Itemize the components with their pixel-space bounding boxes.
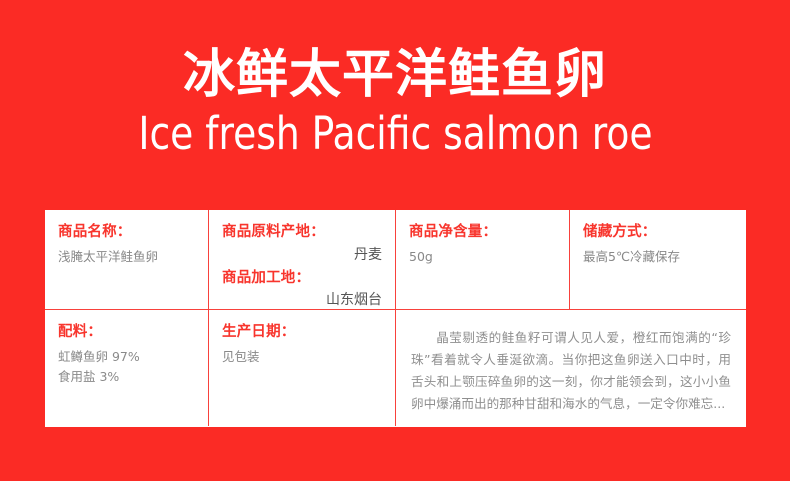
net-content-label: 商品净含量： [409,223,556,243]
cell-description: 晶莹剔透的鲑鱼籽可谓人见人爱，橙红而饱满的“珍珠”看着就令人垂涎欲滴。当你把这鱼… [396,310,746,426]
ingredient-item: 食用盐 3% [58,367,195,387]
production-date-label: 生产日期： [222,323,382,343]
product-name-label: 商品名称： [58,223,195,243]
product-spec-table: 商品名称： 浅腌太平洋鲑鱼卵 商品原料产地： 丹麦 商品加工地： 山东烟台 商品… [45,210,746,427]
ingredients-label: 配料： [58,323,195,343]
cell-ingredients: 配料： 虹鳟鱼卵 97% 食用盐 3% [45,310,209,426]
ingredient-item: 虹鳟鱼卵 97% [58,347,195,367]
processing-place-value: 山东烟台 [222,289,382,309]
product-name-value: 浅腌太平洋鲑鱼卵 [58,247,195,266]
header: 冰鲜太平洋鲑鱼卵 Ice fresh Pacific salmon roe [0,0,790,196]
origin-value: 丹麦 [222,244,382,264]
cell-origin-and-processing: 商品原料产地： 丹麦 商品加工地： 山东烟台 [209,210,396,309]
cell-storage: 储藏方式： 最高5℃冷藏保存 [570,210,746,309]
cell-net-content: 商品净含量： 50g [396,210,570,309]
product-info-banner: 冰鲜太平洋鲑鱼卵 Ice fresh Pacific salmon roe 商品… [0,0,790,481]
page-title-english: Ice fresh Pacific salmon roe [138,109,652,159]
product-description: 晶莹剔透的鲑鱼籽可谓人见人爱，橙红而饱满的“珍珠”看着就令人垂涎欲滴。当你把这鱼… [411,327,731,415]
storage-label: 储藏方式： [583,223,733,243]
table-row: 配料： 虹鳟鱼卵 97% 食用盐 3% 生产日期： 见包装 晶莹剔透的鲑鱼籽可谓… [45,310,746,426]
page-title-chinese: 冰鲜太平洋鲑鱼卵 [183,48,607,103]
origin-label: 商品原料产地： [222,223,382,243]
processing-place-label: 商品加工地： [222,269,382,289]
production-date-value: 见包装 [222,347,382,366]
cell-product-name: 商品名称： 浅腌太平洋鲑鱼卵 [45,210,209,309]
net-content-value: 50g [409,247,556,266]
cell-production-date: 生产日期： 见包装 [209,310,396,426]
table-row: 商品名称： 浅腌太平洋鲑鱼卵 商品原料产地： 丹麦 商品加工地： 山东烟台 商品… [45,210,746,310]
storage-value: 最高5℃冷藏保存 [583,247,733,266]
